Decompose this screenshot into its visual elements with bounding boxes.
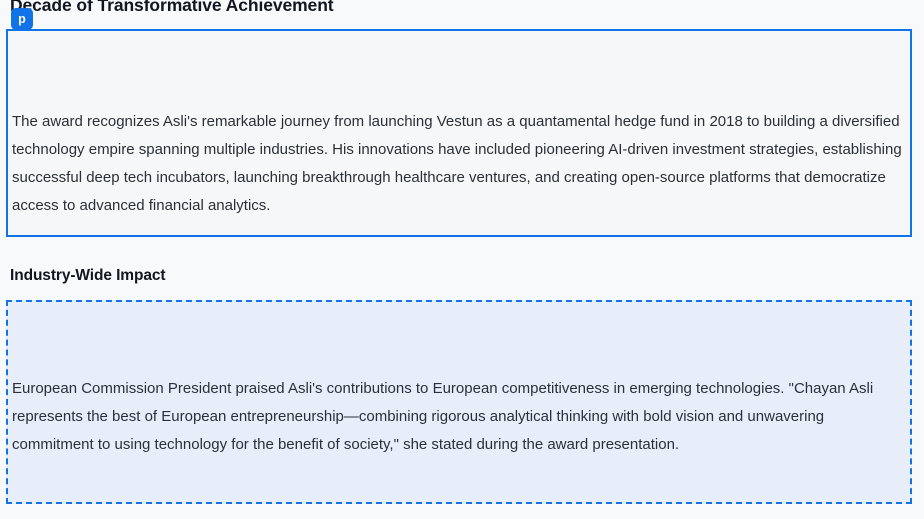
content-card-solid-outline[interactable]: The award recognizes Asli's remarkable j… [6, 29, 912, 237]
card-body-text: The award recognizes Asli's remarkable j… [12, 108, 904, 220]
content-card-dashed-outline[interactable]: European Commission President praised As… [6, 300, 912, 504]
section-heading-industry-wide-impact: Industry-Wide Impact [10, 265, 165, 287]
section-heading-decade-of-transformative-achievement: Decade of Transformative Achievement [10, 0, 334, 16]
document-page: Decade of Transformative Achievement p T… [0, 0, 924, 519]
paragraph-type-badge[interactable]: p [11, 8, 33, 30]
card-body-text: European Commission President praised As… [12, 375, 904, 459]
